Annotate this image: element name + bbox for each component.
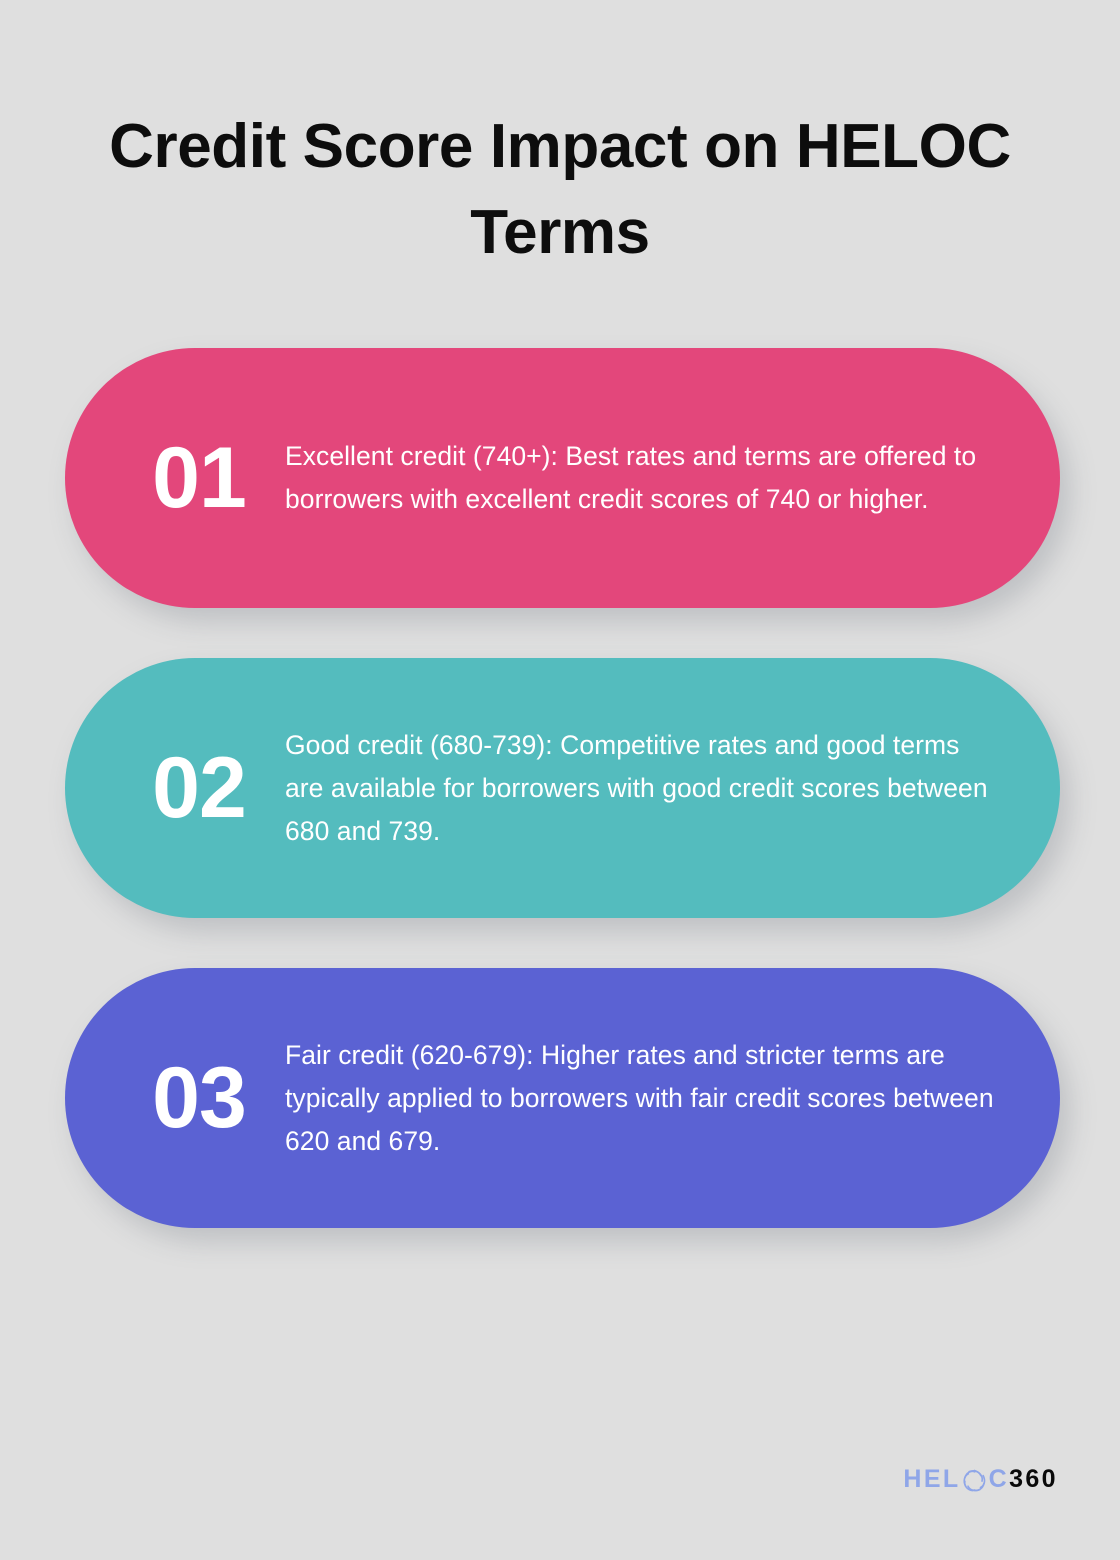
step-card-02[interactable]: 02 Good credit (680-739): Competitive ra… [65,658,1060,918]
brand-logo-text: HEL C 360 [903,1467,1058,1492]
step-card-01[interactable]: 01 Excellent credit (740+): Best rates a… [65,348,1060,608]
step-text-03: Fair credit (620-679): Higher rates and … [285,1034,1002,1163]
brand-logo-prefix: HEL [903,1467,960,1492]
page-title: Credit Score Impact on HELOC Terms [70,104,1050,276]
step-number-03: 03 [113,1055,285,1141]
brand-logo: HEL C 360 [903,1464,1058,1494]
step-number-02: 02 [113,745,285,831]
step-card-03[interactable]: 03 Fair credit (620-679): Higher rates a… [65,968,1060,1228]
brand-logo-c: C [989,1467,1009,1492]
title-section: Credit Score Impact on HELOC Terms [0,104,1120,276]
spiral-swirl-icon [962,1468,987,1493]
step-number-01: 01 [113,435,285,521]
step-text-01: Excellent credit (740+): Best rates and … [285,435,1002,521]
steps-list: 01 Excellent credit (740+): Best rates a… [0,348,1120,1228]
step-text-02: Good credit (680-739): Competitive rates… [285,724,1002,853]
brand-logo-suffix: 360 [1009,1467,1058,1492]
